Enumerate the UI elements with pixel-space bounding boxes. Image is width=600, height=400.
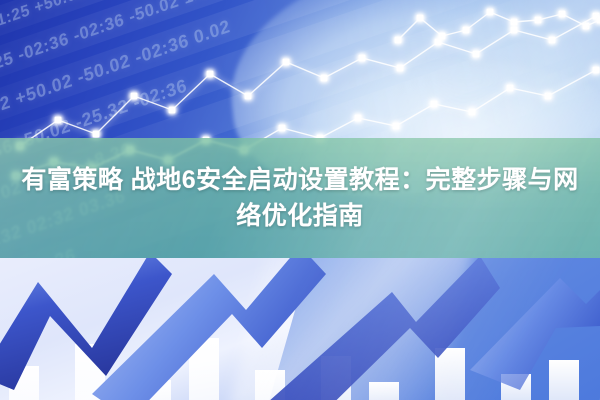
chart-node-marker <box>169 107 176 114</box>
chart-node-marker <box>439 33 446 40</box>
chart-node-marker <box>431 101 438 108</box>
chart-node-marker <box>507 85 514 92</box>
title-line-1: 有富策略 战地6安全启动设置教程：完整步骤与 <box>21 166 553 194</box>
chart-node-marker <box>395 37 402 44</box>
chart-node-marker <box>245 93 252 100</box>
chart-node-marker <box>583 23 590 30</box>
chart-node-marker <box>593 67 600 74</box>
bottom-background <box>0 258 600 400</box>
chart-line <box>398 12 600 40</box>
article-banner: -02:36 -11:25 +5.02 -02:36 +21.36 45.02-… <box>0 0 600 400</box>
chart-node-marker <box>355 115 362 122</box>
chart-node-marker <box>435 39 442 46</box>
chart-node-marker <box>535 17 542 24</box>
chart-node-marker <box>549 37 556 44</box>
chart-node-marker <box>283 59 290 66</box>
title-band: 有富策略 战地6安全启动设置教程：完整步骤与网络优化指南 <box>0 138 600 258</box>
chart-node-marker <box>559 11 566 18</box>
chart-node-marker <box>359 55 366 62</box>
chart-node-marker <box>511 27 518 34</box>
chart-node-marker <box>473 51 480 58</box>
chart-node-marker <box>279 125 286 132</box>
chart-node-marker <box>393 123 400 130</box>
zigzag-arrow-ribbons <box>0 258 600 400</box>
chart-node-marker <box>487 9 494 16</box>
chart-node-marker <box>417 15 424 22</box>
chart-node-marker <box>463 27 470 34</box>
chart-node-marker <box>545 93 552 100</box>
chart-node-marker <box>93 131 100 138</box>
chart-node-marker <box>321 75 328 82</box>
chart-line <box>20 16 596 146</box>
chart-node-marker <box>511 19 518 26</box>
page-title: 有富策略 战地6安全启动设置教程：完整步骤与网络优化指南 <box>20 162 580 234</box>
chart-node-marker <box>469 109 476 116</box>
chart-node-marker <box>55 117 62 124</box>
chart-node-marker <box>397 65 404 72</box>
chart-node-marker <box>131 93 138 100</box>
chart-node-marker <box>207 71 214 78</box>
chart-node-marker <box>593 13 600 20</box>
